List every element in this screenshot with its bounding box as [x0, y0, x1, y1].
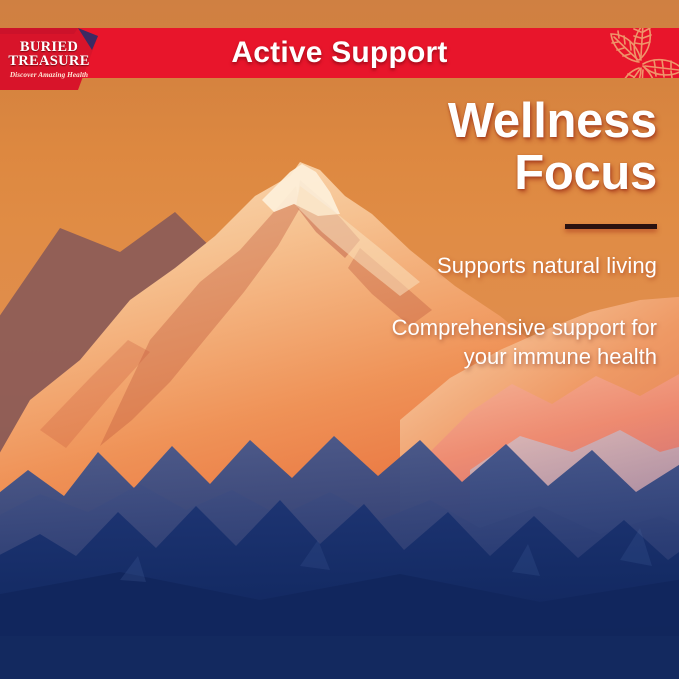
- headline-divider: [565, 224, 657, 229]
- headline-line-1: Wellness: [227, 96, 657, 148]
- product-ad-banner: Active Support: [0, 0, 679, 679]
- brand-logo[interactable]: BURIED TREASURE Discover Amazing Health: [0, 28, 110, 90]
- logo-ribbon-shape: [0, 28, 110, 90]
- description-line-1: Comprehensive support for: [227, 313, 657, 342]
- marketing-copy-panel: Wellness Focus Supports natural living C…: [227, 96, 657, 371]
- product-description: Comprehensive support for your immune he…: [227, 313, 657, 371]
- description-line-2: your immune health: [227, 342, 657, 371]
- headline-line-2: Focus: [227, 148, 657, 200]
- product-tagline: Supports natural living: [227, 253, 657, 279]
- product-headline: Wellness Focus: [227, 96, 657, 200]
- leaf-botanical-icon: [591, 28, 679, 78]
